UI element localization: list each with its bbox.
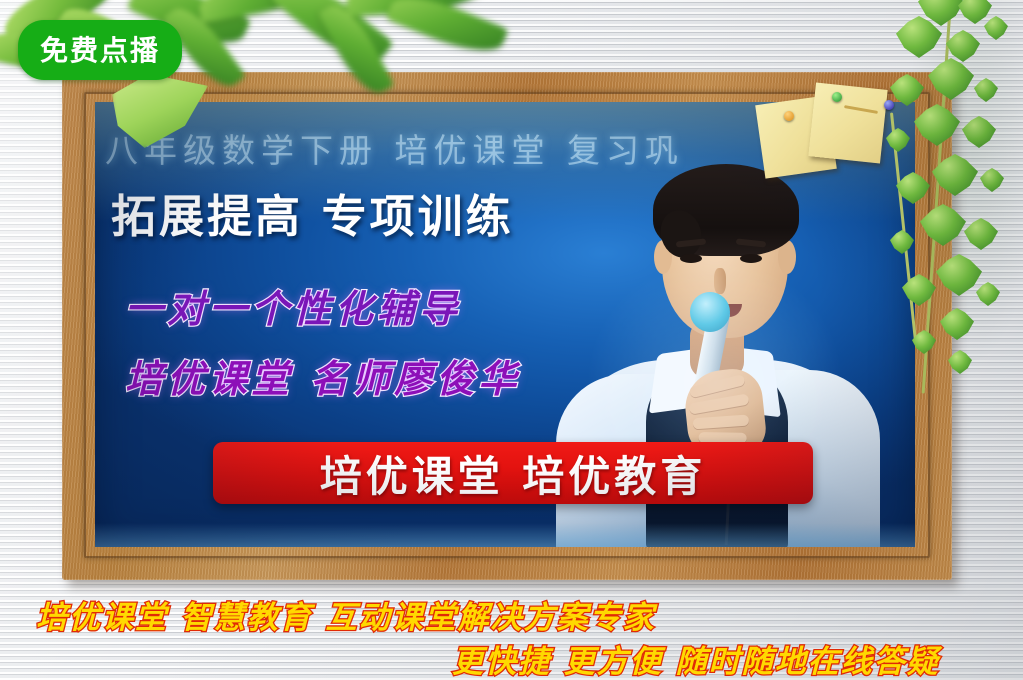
- footer-tagline-secondary: 更快捷 更方便 随时随地在线答疑: [452, 636, 940, 680]
- sticky-note: [808, 82, 887, 163]
- leaf: [386, 0, 509, 63]
- ivy-vine-group: [884, 0, 1023, 412]
- ivy-shadow: [884, 0, 1023, 412]
- free-on-demand-badge[interactable]: 免费点播: [18, 20, 182, 80]
- video-thumbnail-stage: 八年级数学下册 培优课堂 复习巩: [0, 0, 1023, 680]
- pushpin-green-icon: [832, 92, 842, 102]
- pushpin-orange-icon: [784, 111, 794, 121]
- footer-tagline-primary: 培优课堂 智慧教育 互动课堂解决方案专家: [36, 592, 656, 637]
- free-on-demand-badge-label: 免费点播: [40, 34, 160, 67]
